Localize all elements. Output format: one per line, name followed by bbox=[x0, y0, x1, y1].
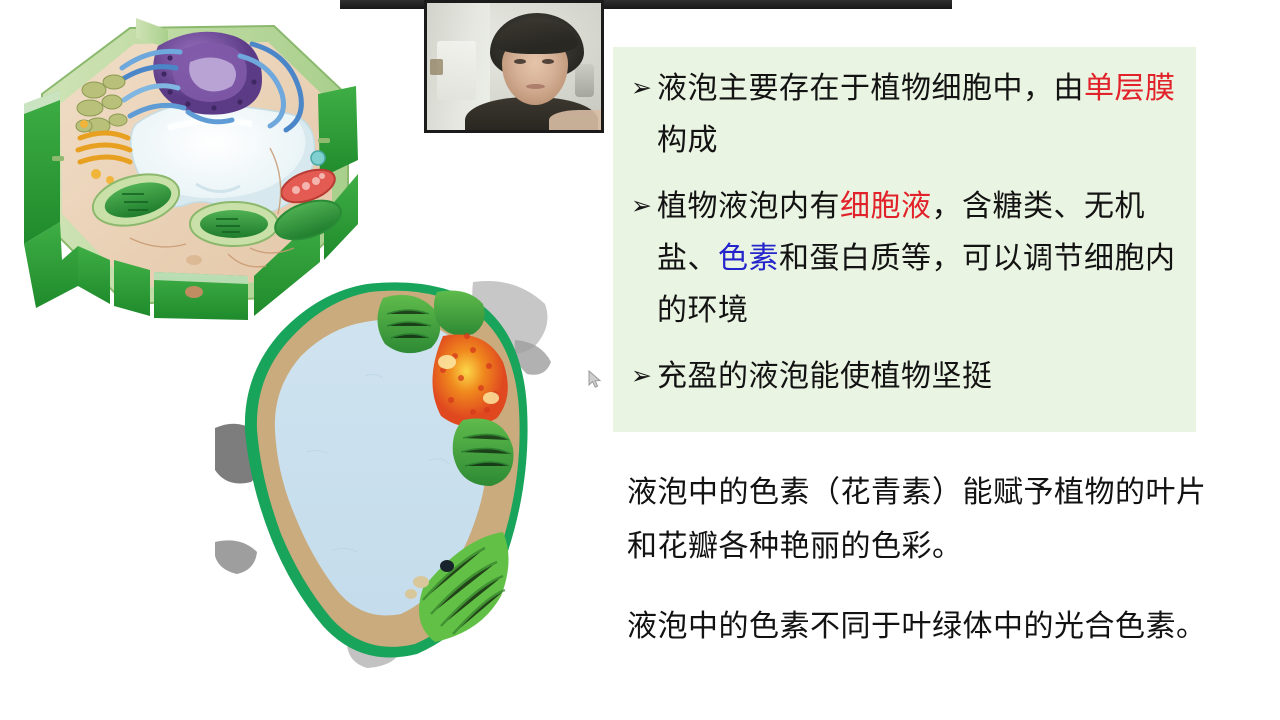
arrow-bullet-icon: ➢ bbox=[631, 63, 657, 113]
webcam-background-object bbox=[430, 59, 442, 76]
webcam-person-eye-right bbox=[542, 59, 554, 64]
slide-canvas: ➢ 液泡主要存在于植物细胞中，由单层膜构成 ➢ 植物液泡内有细胞液，含糖类、无机… bbox=[0, 0, 1280, 720]
presenter-webcam-overlay[interactable] bbox=[424, 0, 604, 133]
bullet-2-segment-1: 植物液泡内有 bbox=[657, 189, 840, 224]
bullet-text-3: 充盈的液泡能使植物坚挺 bbox=[657, 351, 1182, 403]
webcam-person-eye-left bbox=[514, 59, 526, 64]
bullet-text-2: 植物液泡内有细胞液，含糖类、无机盐、色素和蛋白质等，可以调节细胞内的环境 bbox=[657, 181, 1182, 337]
paragraph-1: 液泡中的色素（花青素）能赋予植物的叶片和花瓣各种艳丽的色彩。 bbox=[627, 466, 1227, 574]
paragraph-2: 液泡中的色素不同于叶绿体中的光合色素。 bbox=[627, 600, 1227, 654]
webcam-person-shoulder bbox=[549, 110, 604, 130]
bullet-2-highlight-blue: 色素 bbox=[718, 241, 779, 276]
bullet-1-highlight-red: 单层膜 bbox=[1084, 71, 1176, 106]
webcam-light-panel bbox=[437, 41, 475, 99]
bullet-1-segment-3: 构成 bbox=[657, 123, 718, 158]
bullet-item-3: ➢ 充盈的液泡能使植物坚挺 bbox=[631, 351, 1182, 403]
webcam-right-object bbox=[575, 64, 594, 97]
arrow-bullet-icon: ➢ bbox=[631, 181, 657, 231]
mouse-pointer-icon bbox=[588, 370, 604, 390]
bullet-item-2: ➢ 植物液泡内有细胞液，含糖类、无机盐、色素和蛋白质等，可以调节细胞内的环境 bbox=[631, 181, 1182, 337]
bullet-text-1: 液泡主要存在于植物细胞中，由单层膜构成 bbox=[657, 63, 1182, 167]
plant-cell-micrograph bbox=[215, 270, 555, 670]
bullet-1-segment-1: 液泡主要存在于植物细胞中，由 bbox=[657, 71, 1084, 106]
arrow-bullet-icon: ➢ bbox=[631, 351, 657, 401]
bullet-item-1: ➢ 液泡主要存在于植物细胞中，由单层膜构成 bbox=[631, 63, 1182, 167]
bullet-panel: ➢ 液泡主要存在于植物细胞中，由单层膜构成 ➢ 植物液泡内有细胞液，含糖类、无机… bbox=[613, 47, 1196, 432]
bullet-2-highlight-red: 细胞液 bbox=[840, 189, 932, 224]
